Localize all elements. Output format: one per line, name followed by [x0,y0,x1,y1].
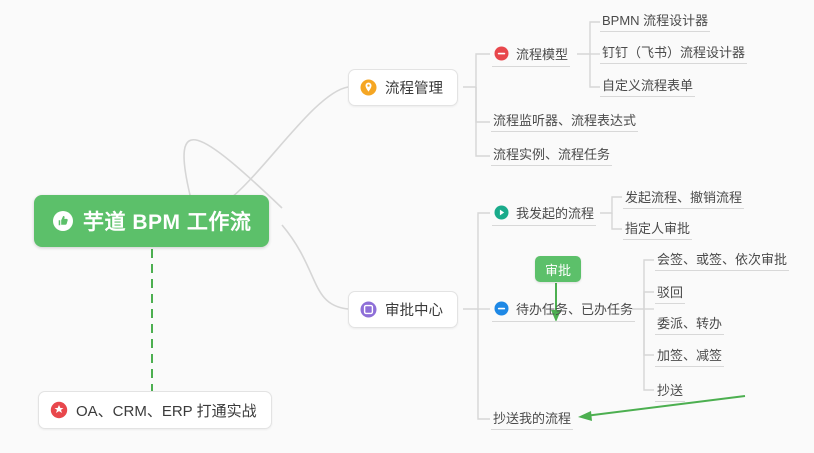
node-assign-approver-label: 指定人审批 [625,218,690,237]
connector-process-to-listener [476,87,490,122]
arrow-cc-link-head [578,411,592,421]
branch-process-management[interactable]: 流程管理 [348,69,458,106]
node-reject-label: 驳回 [657,282,683,301]
connector-model-to-customform [590,54,600,87]
node-listener-expression[interactable]: 流程监听器、流程表达式 [491,108,638,132]
node-instance-task[interactable]: 流程实例、流程任务 [491,142,612,166]
node-custom-form[interactable]: 自定义流程表单 [600,73,695,97]
node-reject[interactable]: 驳回 [655,280,685,304]
node-bpmn-designer[interactable]: BPMN 流程设计器 [600,8,710,32]
node-dingtalk-designer-label: 钉钉（飞书）流程设计器 [602,42,745,61]
branch-process-management-label: 流程管理 [385,77,443,98]
connector-tasks-to-cc [644,309,654,390]
connector-started-to-assign [612,213,622,229]
node-my-started-processes-label: 我发起的流程 [516,203,594,222]
node-cc-to-me-label: 抄送我的流程 [493,408,571,427]
node-initiate-cancel[interactable]: 发起流程、撤销流程 [623,185,744,209]
star-circle-icon [50,401,68,419]
branch-approval-center-label: 审批中心 [385,299,443,320]
root-node[interactable]: 芋道 BPM 工作流 [34,195,269,247]
root-label: 芋道 BPM 工作流 [83,206,251,236]
connector-tasks-to-countersign [632,260,654,309]
location-pin-circle-icon [360,79,377,96]
connector-approval-to-started [463,213,490,309]
play-circle-icon [494,205,509,220]
node-add-remove-sign[interactable]: 加签、减签 [655,343,724,367]
node-cc[interactable]: 抄送 [655,378,685,402]
mindmap-canvas: 芋道 BPM 工作流 流程管理 流程模型 BPMN 流程设计器 钉钉（飞书）流程… [0,0,814,453]
annotation-integration-note-label: OA、CRM、ERP 打通实战 [76,400,257,421]
connector-process-to-instance [476,87,490,156]
connector-approval-to-cc [478,309,490,419]
node-instance-task-label: 流程实例、流程任务 [493,144,610,163]
node-process-model-label: 流程模型 [516,44,568,63]
connector-model-to-bpmn [577,22,600,54]
node-bpmn-designer-label: BPMN 流程设计器 [602,10,708,29]
dash-circle-icon [494,301,509,316]
node-dingtalk-designer[interactable]: 钉钉（飞书）流程设计器 [600,40,747,64]
thumbs-up-circle-icon [52,210,74,232]
node-initiate-cancel-label: 发起流程、撤销流程 [625,187,742,206]
node-cc-to-me[interactable]: 抄送我的流程 [491,406,573,430]
annotation-approval-tag: 审批 [535,256,581,282]
connector-process-to-model [463,54,490,87]
node-delegate-transfer[interactable]: 委派、转办 [655,311,724,335]
connector-tasks-to-reject [644,292,654,309]
node-add-remove-sign-label: 加签、减签 [657,345,722,364]
connector-tasks-to-addsign [644,309,654,355]
connector-started-to-initiate [600,197,622,213]
node-countersign-label: 会签、或签、依次审批 [657,249,787,268]
branch-approval-center[interactable]: 审批中心 [348,291,458,328]
node-process-model[interactable]: 流程模型 [492,41,570,67]
node-cc-label: 抄送 [657,380,683,399]
square-circle-icon [360,301,377,318]
minus-circle-icon [494,46,509,61]
annotation-approval-tag-label: 审批 [545,260,571,279]
node-todo-done-tasks[interactable]: 待办任务、已办任务 [492,296,635,322]
node-assign-approver[interactable]: 指定人审批 [623,216,692,240]
annotation-integration-note[interactable]: OA、CRM、ERP 打通实战 [38,391,272,429]
node-my-started-processes[interactable]: 我发起的流程 [492,200,596,226]
connector-root-to-process [190,87,348,210]
node-custom-form-label: 自定义流程表单 [602,75,693,94]
connector-root-to-approval [282,225,348,309]
node-todo-done-tasks-label: 待办任务、已办任务 [516,299,633,318]
node-countersign[interactable]: 会签、或签、依次审批 [655,247,789,271]
node-delegate-transfer-label: 委派、转办 [657,313,722,332]
node-listener-expression-label: 流程监听器、流程表达式 [493,110,636,129]
